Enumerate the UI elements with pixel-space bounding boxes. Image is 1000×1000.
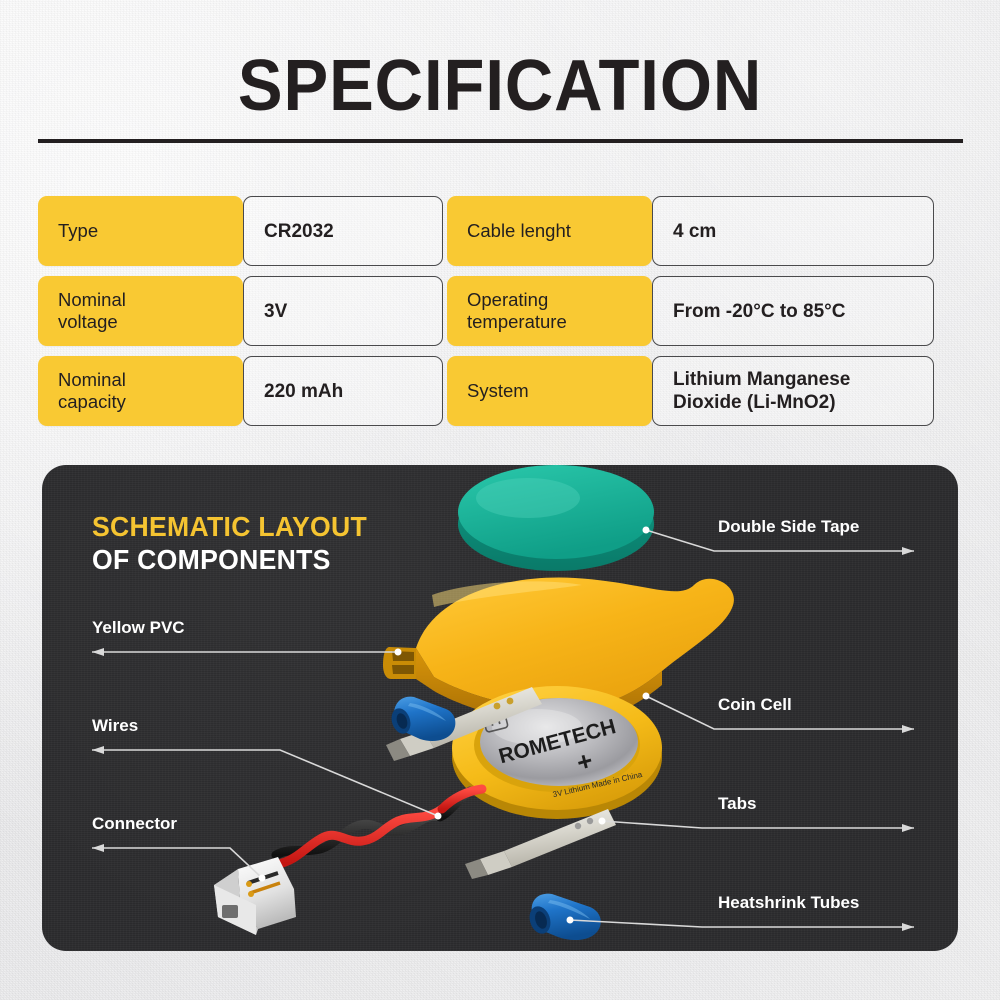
spec-label-cable-length: Cable lenght: [447, 196, 652, 266]
callout-connector: Connector: [92, 814, 177, 834]
spec-label-system: System: [447, 356, 652, 426]
title-divider: [38, 139, 963, 143]
spec-label-operating-temperature: Operatingtemperature: [447, 276, 652, 346]
schematic-heading: SCHEMATIC LAYOUT OF COMPONENTS: [92, 510, 367, 576]
callout-double-side-tape: Double Side Tape: [718, 517, 859, 537]
page-title: SPECIFICATION: [35, 47, 965, 125]
spec-label-type: Type: [38, 196, 243, 266]
spec-label-nominal-voltage: Nominalvoltage: [38, 276, 243, 346]
callout-tabs: Tabs: [718, 794, 756, 814]
spec-value-cable-length: 4 cm: [652, 196, 934, 266]
specification-table: Type CR2032 Cable lenght 4 cm Nominalvol…: [38, 196, 966, 436]
spec-value-nominal-capacity: 220 mAh: [243, 356, 443, 426]
spec-value-system: Lithium ManganeseDioxide (Li-MnO2): [652, 356, 934, 426]
schematic-layout-panel: SCHEMATIC LAYOUT OF COMPONENTS: [42, 465, 958, 951]
spec-value-operating-temperature: From -20°C to 85°C: [652, 276, 934, 346]
callout-wires: Wires: [92, 716, 138, 736]
spec-label-nominal-capacity: Nominalcapacity: [38, 356, 243, 426]
callout-heatshrink-tubes: Heatshrink Tubes: [718, 893, 859, 913]
spec-value-nominal-voltage: 3V: [243, 276, 443, 346]
schematic-heading-line1: SCHEMATIC LAYOUT: [92, 510, 367, 543]
spec-value-type: CR2032: [243, 196, 443, 266]
callout-coin-cell: Coin Cell: [718, 695, 792, 715]
callout-yellow-pvc: Yellow PVC: [92, 618, 185, 638]
schematic-heading-line2: OF COMPONENTS: [92, 543, 367, 576]
